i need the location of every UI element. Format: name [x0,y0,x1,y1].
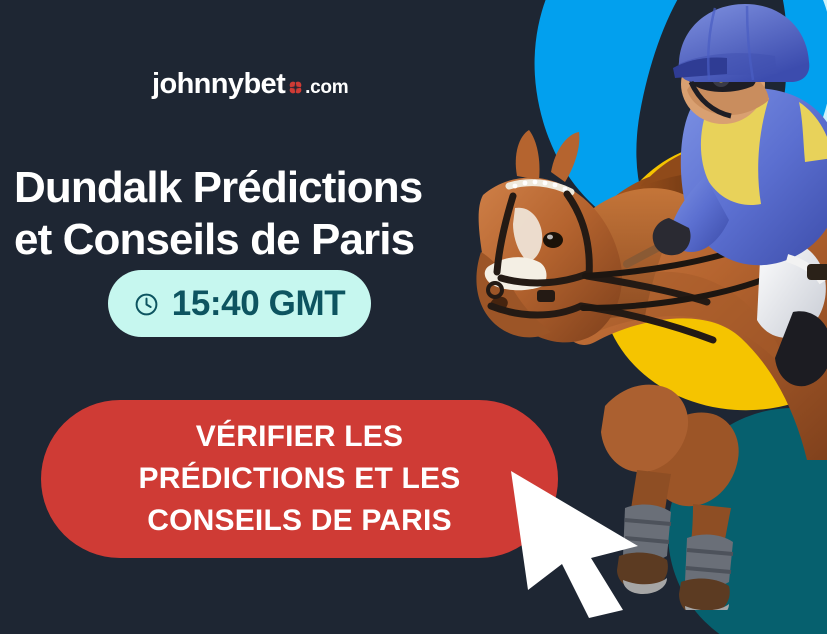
clover-icon [288,80,303,95]
teal-circle-shape [668,408,827,634]
headline-line-1: Dundalk Prédictions [14,162,484,214]
headline-line-2: et Conseils de Paris [14,214,484,266]
clock-icon [134,292,159,317]
banner-content: johnnybet .com Dundalk Prédictions et Co… [0,0,500,634]
page-title: Dundalk Prédictions et Conseils de Paris [14,162,484,266]
logo-name: johnnybet [152,68,285,101]
brand-logo[interactable]: johnnybet .com [152,68,348,101]
race-time-label: 15:40 GMT [172,284,345,324]
check-predictions-button[interactable]: VÉRIFIER LES PRÉDICTIONS ET LES CONSEILS… [41,400,558,558]
status-badge: 15:40 GMT [108,270,371,337]
cta-line-3: CONSEILS DE PARIS [147,500,452,542]
logo-tld: .com [305,77,348,99]
promo-banner: johnnybet .com Dundalk Prédictions et Co… [0,0,827,634]
cta-line-2: PRÉDICTIONS ET LES [139,458,461,500]
cta-line-1: VÉRIFIER LES [196,416,403,458]
